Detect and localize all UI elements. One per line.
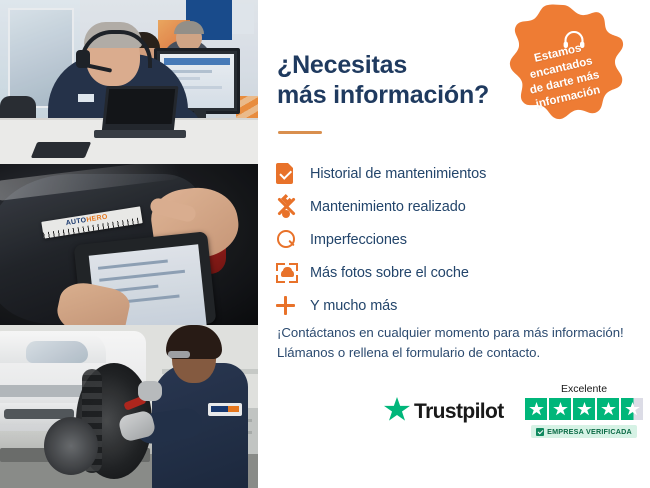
star-3 bbox=[573, 398, 595, 420]
content-panel: ¿Necesitas más información? Estamos enca… bbox=[258, 0, 650, 488]
information-promo-card: AUTOHERO bbox=[0, 0, 650, 488]
feature-item-more-photos: Más fotos sobre el coche bbox=[276, 256, 606, 289]
contact-copy-line-1: ¡Contáctanos en cualquier momento para m… bbox=[277, 323, 637, 343]
feature-label: Imperfecciones bbox=[310, 232, 407, 248]
feature-label: Y mucho más bbox=[310, 298, 397, 314]
photo-column: AUTOHERO bbox=[0, 0, 258, 488]
plus-icon bbox=[276, 296, 310, 315]
title-underline-rule bbox=[278, 131, 322, 134]
star-rating bbox=[522, 398, 646, 420]
feature-item-much-more: Y mucho más bbox=[276, 289, 606, 322]
verified-company-label: EMPRESA VERIFICADA bbox=[547, 427, 632, 436]
feature-item-maintenance-history: Historial de mantenimientos bbox=[276, 157, 606, 190]
tools-cross-icon bbox=[276, 196, 310, 217]
star-4 bbox=[597, 398, 619, 420]
page-title: ¿Necesitas más información? bbox=[277, 50, 527, 110]
rating-label: Excelente bbox=[522, 383, 646, 395]
feature-label: Más fotos sobre el coche bbox=[310, 265, 469, 281]
page-title-line-2: más información? bbox=[277, 80, 527, 110]
technician-wheel-check-photo bbox=[0, 325, 258, 488]
star-5-partial bbox=[621, 398, 643, 420]
verified-company-badge: EMPRESA VERIFICADA bbox=[531, 425, 637, 438]
star-1 bbox=[525, 398, 547, 420]
trustpilot-star-icon bbox=[384, 397, 410, 427]
trustpilot-widget[interactable]: Trustpilot Excelente EMPRESA VERIFICADA bbox=[384, 383, 650, 453]
document-check-icon bbox=[276, 163, 310, 184]
vehicle-inspection-ruler-photo: AUTOHERO bbox=[0, 164, 258, 325]
verified-check-icon bbox=[536, 428, 544, 436]
page-title-line-1: ¿Necesitas bbox=[277, 50, 527, 80]
call-center-agents-photo bbox=[0, 0, 258, 164]
feature-item-imperfections: Imperfecciones bbox=[276, 223, 606, 256]
star-2 bbox=[549, 398, 571, 420]
feature-label: Historial de mantenimientos bbox=[310, 166, 486, 182]
magnifier-icon bbox=[276, 229, 310, 250]
support-seal-badge: Estamos encantados de darte más informac… bbox=[502, 3, 624, 125]
contact-copy: ¡Contáctanos en cualquier momento para m… bbox=[277, 323, 637, 364]
car-focus-frame-icon bbox=[276, 263, 310, 283]
trustpilot-wordmark: Trustpilot bbox=[414, 400, 504, 424]
feature-list: Historial de mantenimientos Mantenimient… bbox=[276, 157, 606, 322]
feature-item-maintenance-done: Mantenimiento realizado bbox=[276, 190, 606, 223]
trustpilot-rating: Excelente EMPRESA VERIFICADA bbox=[522, 383, 646, 441]
trustpilot-logo[interactable]: Trustpilot bbox=[384, 397, 504, 427]
contact-copy-line-2: Llámanos o rellena el formulario de cont… bbox=[277, 343, 637, 363]
feature-label: Mantenimiento realizado bbox=[310, 199, 466, 215]
